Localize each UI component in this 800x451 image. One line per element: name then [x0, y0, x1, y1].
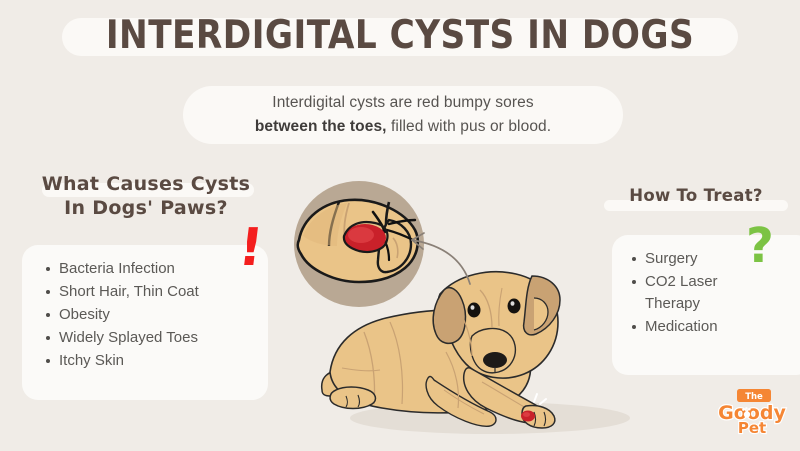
infographic-canvas: INTERDIGITAL CYSTS IN DOGS Interdigital … — [0, 0, 800, 451]
list-item: Medication — [630, 316, 790, 339]
causes-heading-line-1: What Causes Cysts — [42, 173, 251, 195]
title-block: INTERDIGITAL CYSTS IN DOGS — [0, 16, 800, 55]
subtitle-line-2: between the toes, filled with pus or blo… — [255, 115, 551, 139]
causes-heading-line-2: In Dogs' Paws? — [64, 197, 228, 219]
list-item: Bacteria Infection — [44, 258, 259, 281]
causes-heading: What Causes Cysts In Dogs' Paws? — [22, 172, 270, 221]
svg-text:Pet: Pet — [738, 419, 766, 436]
subtitle-callout: Interdigital cysts are red bumpy sores b… — [183, 86, 623, 144]
list-item: Widely Splayed Toes — [44, 327, 259, 350]
page-title: INTERDIGITAL CYSTS IN DOGS — [48, 16, 752, 55]
list-item: Obesity — [44, 304, 259, 327]
treatment-heading-text: How To Treat? — [629, 186, 763, 205]
list-item: Short Hair, Thin Coat — [44, 281, 259, 304]
the-goody-pet-logo[interactable]: The Goody Pet — [716, 388, 788, 436]
treatment-heading: How To Treat? — [598, 185, 794, 206]
question-mark-icon: ? — [746, 222, 774, 270]
subtitle-emphasis: between the toes, — [255, 118, 387, 135]
svg-text:The: The — [745, 392, 763, 402]
subtitle-line-1: Interdigital cysts are red bumpy sores — [272, 91, 533, 115]
subtitle-line-2-rest: filled with pus or blood. — [387, 118, 552, 135]
curved-arrow-icon — [396, 228, 476, 290]
list-item-continuation: Therapy — [630, 293, 790, 316]
causes-list: Bacteria Infection Short Hair, Thin Coat… — [44, 258, 259, 373]
list-item: Itchy Skin — [44, 350, 259, 373]
